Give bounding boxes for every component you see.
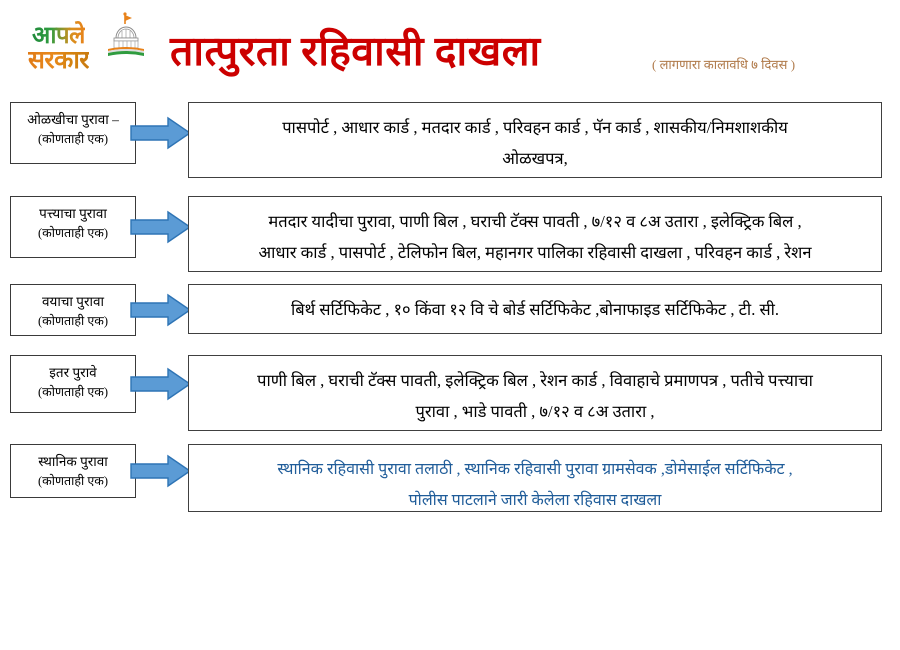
row-label-subtitle: (कोणताही एक)	[11, 311, 135, 331]
row-label-identity-proof: ओळखीचा पुरावा – (कोणताही एक)	[10, 102, 136, 164]
content-line: ओळखपत्र,	[502, 143, 568, 174]
page-title: तात्पुरता रहिवासी दाखला	[170, 22, 541, 78]
content-line: पासपोर्ट , आधार कार्ड , मतदार कार्ड , पर…	[282, 112, 788, 143]
row-label-title: पत्त्याचा पुरावा	[11, 205, 135, 223]
row-label-subtitle: (कोणताही एक)	[11, 129, 135, 149]
row-label-age-proof: वयाचा पुरावा (कोणताही एक)	[10, 284, 136, 336]
arrow-right-icon	[130, 454, 192, 488]
arrow-right-icon	[130, 116, 192, 150]
document-header: आपले सरकार तात्पुरता रहिवा	[0, 0, 900, 92]
row-content-identity-proof: पासपोर्ट , आधार कार्ड , मतदार कार्ड , पर…	[188, 102, 882, 178]
content-line: मतदार यादीचा पुरावा, पाणी बिल , घराची टॅ…	[268, 206, 801, 237]
content-line: बिर्थ सर्टिफिकेट , १० किंवा १२ वि चे बोर…	[291, 294, 779, 325]
arrow-right-icon	[130, 367, 192, 401]
row-label-title: स्थानिक पुरावा	[11, 453, 135, 471]
row-label-title: वयाचा पुरावा	[11, 293, 135, 311]
arrow-right-icon	[130, 210, 192, 244]
row-label-subtitle: (कोणताही एक)	[11, 471, 135, 491]
row-label-other-proofs: इतर पुरावे (कोणताही एक)	[10, 355, 136, 413]
row-label-subtitle: (कोणताही एक)	[11, 223, 135, 243]
row-content-local-proof: स्थानिक रहिवासी पुरावा तलाठी , स्थानिक र…	[188, 444, 882, 512]
content-line: पुरावा , भाडे पावती , ७/१२ व ८अ उतारा ,	[416, 396, 655, 427]
row-label-title: ओळखीचा पुरावा –	[11, 111, 135, 129]
content-line: पाणी बिल , घराची टॅक्स पावती, इलेक्ट्रिक…	[257, 365, 813, 396]
row-label-address-proof: पत्त्याचा पुरावा (कोणताही एक)	[10, 196, 136, 258]
row-content-age-proof: बिर्थ सर्टिफिकेट , १० किंवा १२ वि चे बोर…	[188, 284, 882, 334]
row-label-title: इतर पुरावे	[11, 364, 135, 382]
row-content-address-proof: मतदार यादीचा पुरावा, पाणी बिल , घराची टॅ…	[188, 196, 882, 272]
aaple-sarkar-logo: आपले सरकार	[26, 12, 148, 78]
row-label-subtitle: (कोणताही एक)	[11, 382, 135, 402]
row-content-other-proofs: पाणी बिल , घराची टॅक्स पावती, इलेक्ट्रिक…	[188, 355, 882, 431]
page-subtitle-duration: ( लागणारा कालावधि ७ दिवस )	[652, 55, 795, 73]
row-label-local-proof: स्थानिक पुरावा (कोणताही एक)	[10, 444, 136, 498]
arrow-right-icon	[130, 293, 192, 327]
content-line: पोलीस पाटलाने जारी केलेला रहिवास दाखला	[409, 485, 662, 516]
logo-word-sarkar: सरकार	[28, 42, 89, 76]
government-building-emblem-icon	[104, 12, 148, 58]
content-line: स्थानिक रहिवासी पुरावा तलाठी , स्थानिक र…	[277, 454, 792, 485]
content-line: आधार कार्ड , पासपोर्ट , टेलिफोन बिल, महा…	[258, 237, 811, 268]
